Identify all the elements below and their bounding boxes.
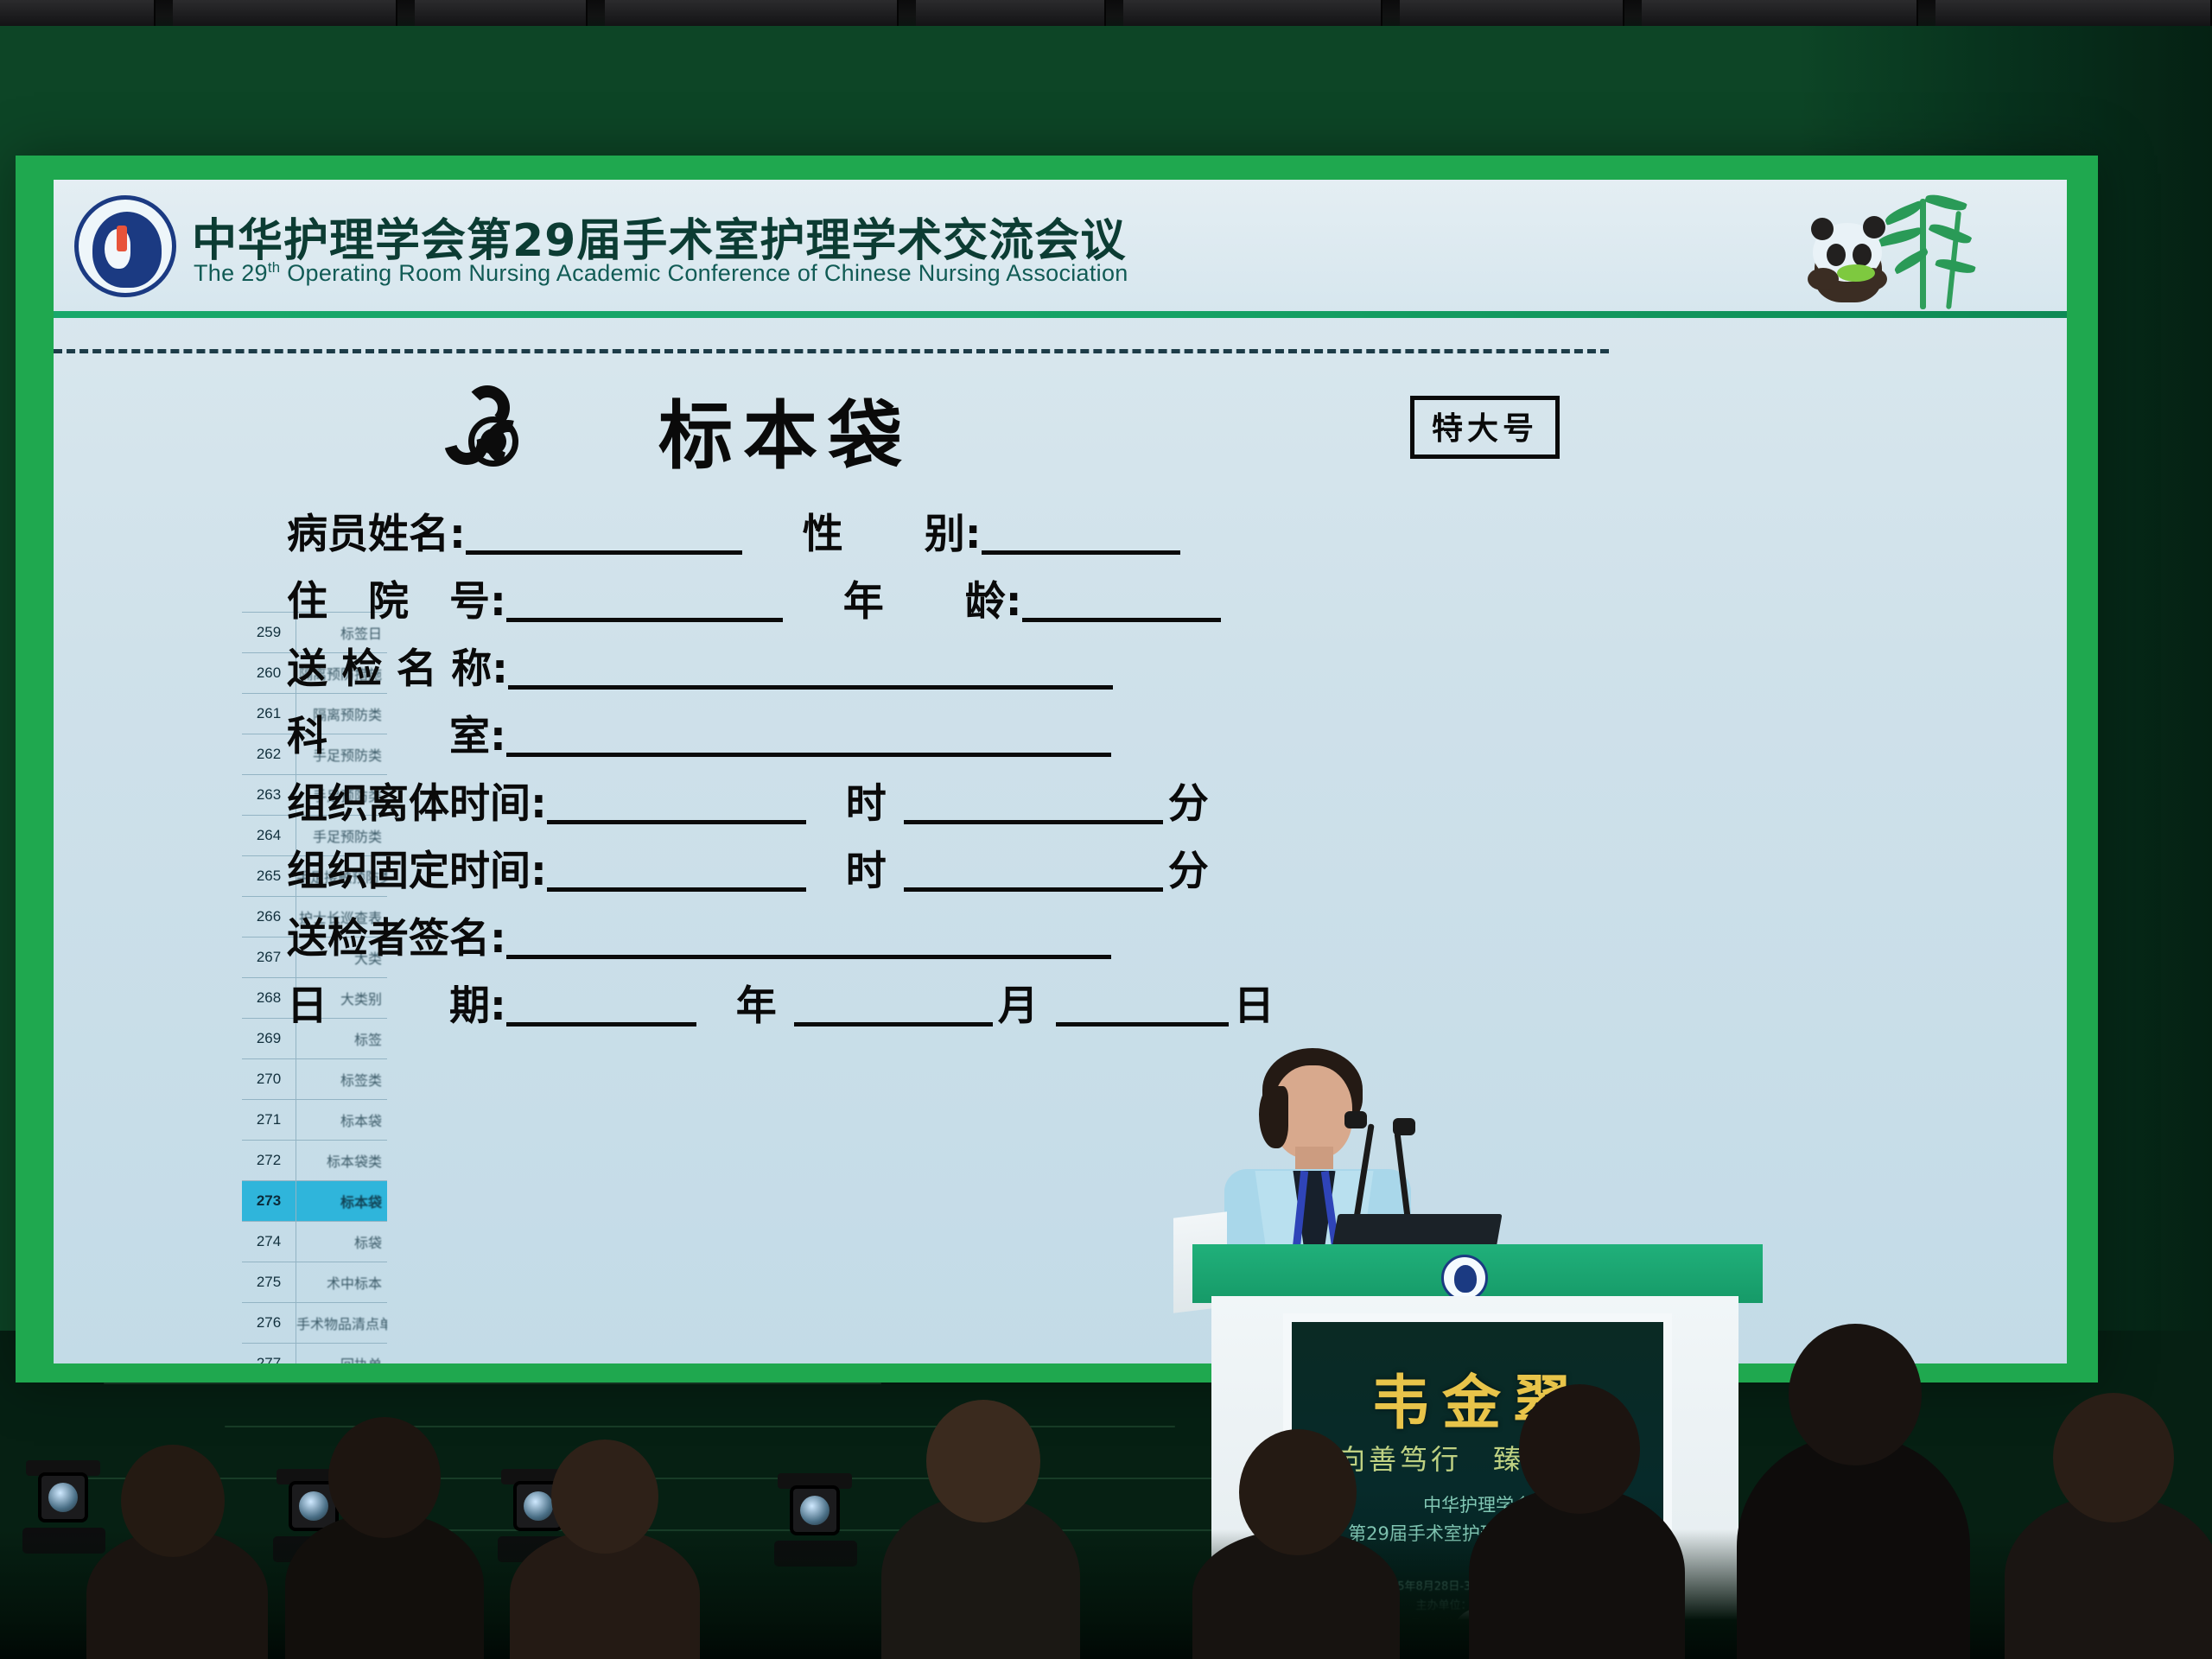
- form-field-label: 送 检 名 称:: [287, 649, 508, 690]
- side-list-row-label: 手术物品清点单: [296, 1313, 387, 1333]
- side-list-row[interactable]: 275术中标本: [242, 1262, 387, 1303]
- form-field-blank[interactable]: [547, 852, 806, 892]
- side-list-row[interactable]: 273标本袋: [242, 1181, 387, 1222]
- side-list-row-number: 275: [242, 1274, 296, 1291]
- form-row: 送 检 名 称:: [287, 622, 1911, 690]
- side-list-row-number: 272: [242, 1152, 296, 1169]
- side-list-row[interactable]: 274标袋: [242, 1222, 387, 1262]
- form-field-label: 病员姓名:: [287, 514, 466, 555]
- audience-person: [1737, 1434, 1970, 1659]
- form-field-label: 日 期:: [287, 986, 506, 1027]
- microphone-head-left: [1344, 1111, 1367, 1128]
- side-list-row[interactable]: 272标本袋类: [242, 1141, 387, 1181]
- form-row: 日 期:年月日: [287, 959, 1911, 1027]
- form-row: 科 室:: [287, 690, 1911, 757]
- header-green-rule: [54, 311, 2067, 318]
- side-list-row-label: 标本袋: [296, 1191, 387, 1211]
- form-field-blank[interactable]: [466, 515, 742, 555]
- specimen-bag-form: 标本袋 特大号 病员姓名:性 别:住 院 号:年 龄:送 检 名 称:科 室:组…: [287, 384, 1911, 1027]
- form-row: 住 院 号:年 龄:: [287, 555, 1911, 622]
- side-list-row-label: 标本袋类: [296, 1150, 387, 1171]
- form-field-label: 送检者签名:: [287, 918, 506, 959]
- side-list-row-label: 标袋: [296, 1231, 387, 1252]
- conference-photo: 中华护理学会第29届手术室护理学术交流会议 The 29th Operating…: [0, 0, 2212, 1659]
- audience-head: [121, 1445, 225, 1557]
- form-field-unit: 分: [1163, 784, 1214, 824]
- side-list-row-label: 回执单: [296, 1353, 387, 1363]
- audience-head: [1519, 1384, 1640, 1514]
- title-en-suffix: Operating Room Nursing Academic Conferen…: [280, 260, 1128, 286]
- audience-head: [2053, 1393, 2174, 1522]
- form-field-unit: 年: [731, 986, 782, 1027]
- form-row: 组织固定时间:时分: [287, 824, 1911, 892]
- form-field-label: 组织固定时间:: [287, 851, 547, 892]
- audience-head: [551, 1440, 658, 1554]
- form-field-blank[interactable]: [547, 785, 806, 824]
- form-field-blank[interactable]: [794, 987, 993, 1027]
- form-field-label: 科 室:: [287, 716, 506, 757]
- size-badge: 特大号: [1410, 396, 1560, 459]
- form-field-blank[interactable]: [506, 717, 1111, 757]
- side-list-row-number: 273: [242, 1192, 296, 1210]
- form-field-label: 组织离体时间:: [287, 784, 547, 824]
- form-row: 组织离体时间:时分: [287, 757, 1911, 824]
- form-field-unit: 时: [841, 851, 892, 892]
- panda-mascot-icon: [1790, 188, 2015, 314]
- ceiling-truss: [0, 0, 2212, 28]
- form-field-blank[interactable]: [506, 919, 1111, 959]
- side-list-row-label: 术中标本: [296, 1272, 387, 1293]
- form-field-unit: 月: [993, 986, 1044, 1027]
- form-title-row: 标本袋 特大号: [287, 384, 1911, 487]
- slide-dashed-divider: [54, 349, 1609, 353]
- side-list-row-number: 277: [242, 1355, 296, 1363]
- projection-screen: 中华护理学会第29届手术室护理学术交流会议 The 29th Operating…: [54, 180, 2067, 1363]
- form-field-blank[interactable]: [904, 852, 1163, 892]
- biohazard-icon: [442, 389, 544, 486]
- side-list-row-number: 274: [242, 1233, 296, 1250]
- side-list-row-label: 标签类: [296, 1069, 387, 1090]
- form-field-label-secondary: 年 龄:: [843, 582, 1022, 622]
- title-en-prefix: The 29: [194, 260, 268, 286]
- podium-logo-icon: [1441, 1255, 1488, 1301]
- form-field-label-secondary: 性 别:: [803, 514, 982, 555]
- form-field-label: 住 院 号:: [287, 582, 506, 622]
- side-list-row[interactable]: 270标签类: [242, 1059, 387, 1100]
- form-title: 标本袋: [658, 375, 912, 483]
- side-list-row-number: 271: [242, 1111, 296, 1128]
- side-list-row-number: 276: [242, 1314, 296, 1332]
- form-row: 病员姓名:性 别:: [287, 487, 1911, 555]
- microphone-head-right: [1393, 1118, 1415, 1135]
- conference-title-en: The 29th Operating Room Nursing Academic…: [194, 259, 1128, 287]
- side-list-row[interactable]: 271标本袋: [242, 1100, 387, 1141]
- form-field-blank[interactable]: [982, 515, 1180, 555]
- side-list-row-label: 标本袋: [296, 1109, 387, 1130]
- slide-header: 中华护理学会第29届手术室护理学术交流会议 The 29th Operating…: [54, 180, 2067, 318]
- form-field-blank[interactable]: [904, 785, 1163, 824]
- form-field-blank[interactable]: [1022, 582, 1221, 622]
- laptop-on-podium: [1332, 1214, 1502, 1249]
- form-field-blank[interactable]: [1056, 987, 1229, 1027]
- projection-screen-frame: 中华护理学会第29届手术室护理学术交流会议 The 29th Operating…: [16, 156, 2098, 1382]
- form-field-blank[interactable]: [506, 987, 696, 1027]
- side-list-row[interactable]: 277回执单: [242, 1344, 387, 1363]
- form-field-blank[interactable]: [508, 650, 1113, 690]
- title-en-ordinal: th: [268, 259, 281, 276]
- form-row: 送检者签名:: [287, 892, 1911, 959]
- side-list-row[interactable]: 276手术物品清点单: [242, 1303, 387, 1344]
- form-field-blank[interactable]: [506, 582, 783, 622]
- side-list-row-label: 标签: [296, 1028, 387, 1049]
- side-list-row-number: 270: [242, 1071, 296, 1088]
- form-field-unit: 日: [1229, 986, 1280, 1027]
- form-field-unit: 分: [1163, 851, 1214, 892]
- form-field-unit: 时: [841, 784, 892, 824]
- audience-head: [926, 1400, 1040, 1522]
- form-field-rows: 病员姓名:性 别:住 院 号:年 龄:送 检 名 称:科 室:组织离体时间:时分…: [287, 487, 1911, 1027]
- audience-head: [1789, 1324, 1922, 1465]
- side-list-row-number: 269: [242, 1030, 296, 1047]
- audience-head: [1239, 1429, 1357, 1555]
- cna-logo-icon: [74, 195, 176, 297]
- audience-head: [328, 1417, 441, 1538]
